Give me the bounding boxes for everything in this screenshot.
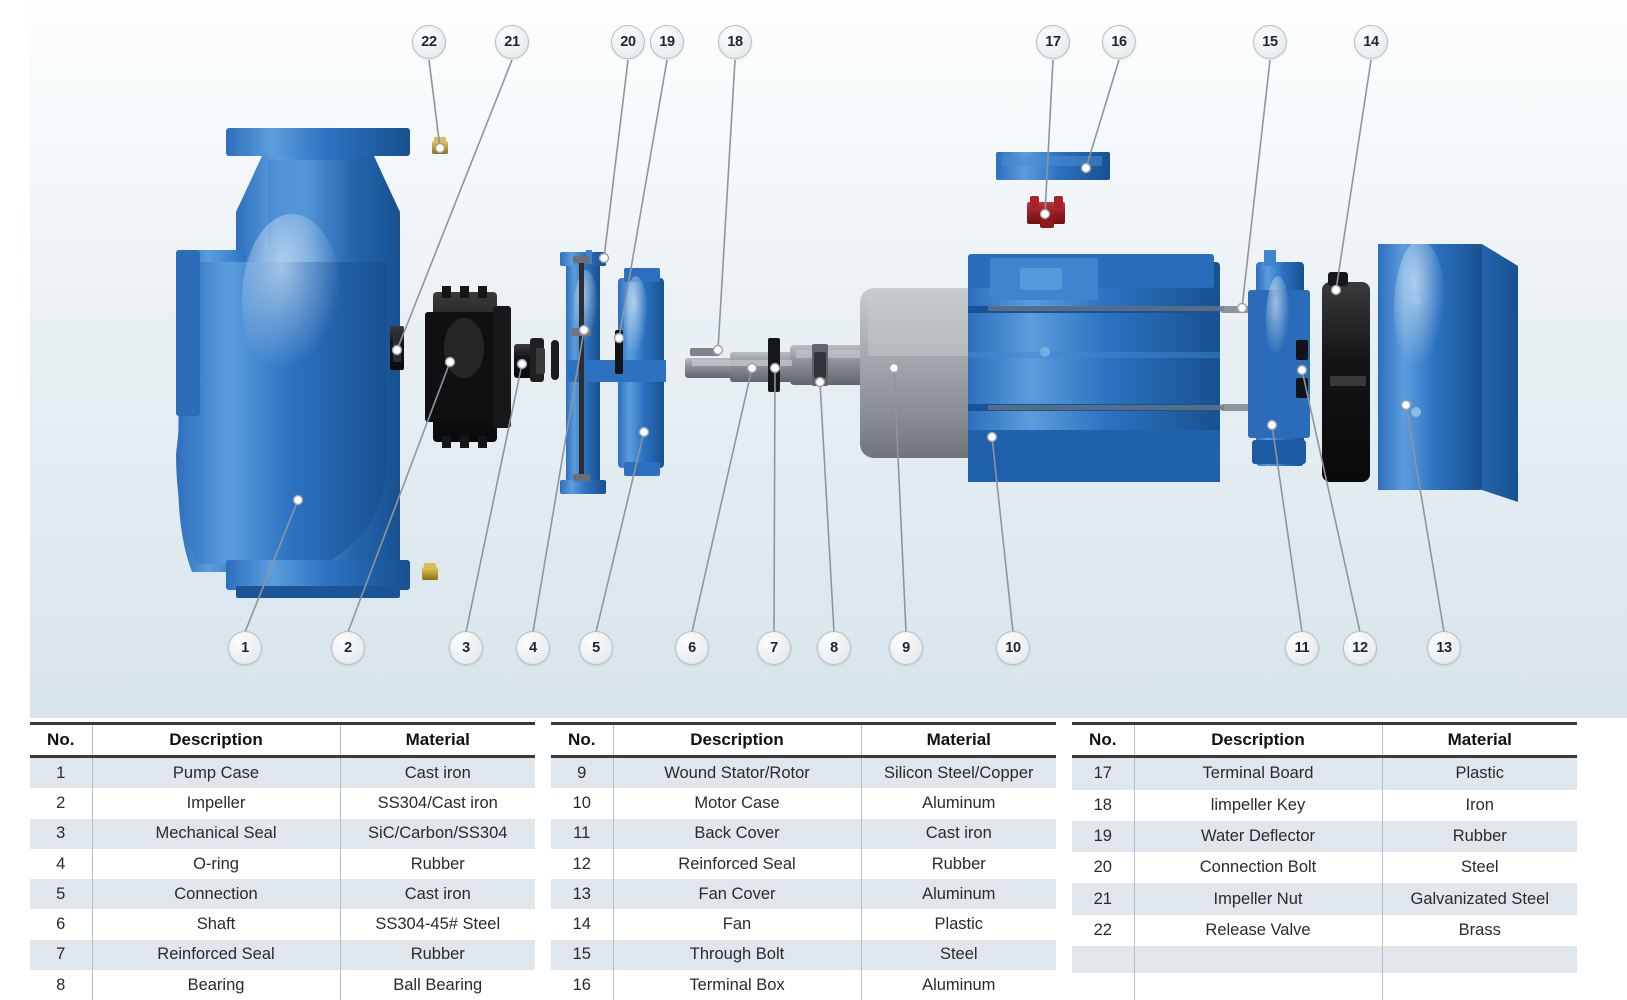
callout-14: 14 [1354,25,1388,59]
part-terminal-box [996,152,1110,180]
cell-description: Fan [613,909,861,939]
cell-no: 2 [30,788,92,818]
callout-5: 5 [579,631,613,665]
cell-no: 5 [30,879,92,909]
table-row: 7Reinforced SealRubber [30,940,535,970]
parts-table-1: No. Description Material 1Pump CaseCast … [30,722,535,1000]
table-row: 8BearingBall Bearing [30,970,535,1000]
cell-description: Shaft [92,909,340,939]
callout-6: 6 [675,631,709,665]
callout-9: 9 [889,631,923,665]
cell-description: O-ring [92,849,340,879]
part-o-ring [551,340,559,380]
cell-description: Bearing [92,970,340,1000]
cell-description: Mechanical Seal [92,819,340,849]
cell-material: Aluminum [861,788,1056,818]
cell-description: Connection Bolt [1134,852,1382,883]
cell-no: 18 [1072,790,1134,821]
cell-material: Plastic [1382,757,1577,790]
cell-description: Reinforced Seal [92,940,340,970]
cell-material: SS304/Cast iron [340,788,535,818]
cell-material: Rubber [340,849,535,879]
part-mechanical-seal [514,338,545,382]
table-row [1072,946,1577,973]
parts-table-2: No. Description Material 9Wound Stator/R… [551,722,1056,1000]
column-header-description: Description [92,724,340,757]
callout-12: 12 [1343,631,1377,665]
cell-material: Cast iron [340,879,535,909]
cell-description: Motor Case [613,788,861,818]
part-fan-cover [1378,240,1518,502]
cell-no: 22 [1072,915,1134,946]
callout-19: 19 [650,25,684,59]
cell-no [1072,946,1134,973]
cell-no: 14 [551,909,613,939]
cell-description [1134,946,1382,973]
cell-description: Release Valve [1134,915,1382,946]
cell-material: Steel [1382,852,1577,883]
part-impeller [425,286,511,448]
column-header-material: Material [861,724,1056,757]
cell-material: Cast iron [861,819,1056,849]
cell-material: Ball Bearing [340,970,535,1000]
cell-description: limpeller Key [1134,790,1382,821]
cell-no: 19 [1072,821,1134,852]
cell-description: Back Cover [613,819,861,849]
callout-21: 21 [495,25,529,59]
cell-description: Through Bolt [613,940,861,970]
column-header-material: Material [1382,724,1577,757]
table-row: 18limpeller KeyIron [1072,790,1577,821]
cell-no: 15 [551,940,613,970]
callout-11: 11 [1285,631,1319,665]
cell-no: 17 [1072,757,1134,790]
cell-no: 20 [1072,852,1134,883]
table-row: 21Impeller NutGalvanizated Steel [1072,883,1577,914]
callout-16: 16 [1102,25,1136,59]
cell-description: Reinforced Seal [613,849,861,879]
column-header-description: Description [613,724,861,757]
cell-material: Rubber [1382,821,1577,852]
cell-material: Plastic [861,909,1056,939]
parts-list-tables: No. Description Material 1Pump CaseCast … [30,722,1627,1000]
column-header-no: No. [551,724,613,757]
cell-no: 7 [30,940,92,970]
cell-material: SS304-45# Steel [340,909,535,939]
cell-material: SiC/Carbon/SS304 [340,819,535,849]
cell-description: Water Deflector [1134,821,1382,852]
callout-15: 15 [1253,25,1287,59]
cell-no: 4 [30,849,92,879]
diagram-illustration [30,0,1627,718]
cell-no: 13 [551,879,613,909]
part-release-valve-lower [422,563,438,580]
table-row: 4O-ringRubber [30,849,535,879]
cell-material: Brass [1382,915,1577,946]
cell-material: Iron [1382,790,1577,821]
callout-17: 17 [1036,25,1070,59]
part-motor-case [968,254,1220,482]
column-header-description: Description [1134,724,1382,757]
table-row: 20Connection BoltSteel [1072,852,1577,883]
cell-no: 1 [30,757,92,789]
part-fan [1322,272,1370,482]
cell-material: Rubber [340,940,535,970]
callout-7: 7 [757,631,791,665]
cell-material: Galvanizated Steel [1382,883,1577,914]
callout-10: 10 [996,631,1030,665]
table-row: 5ConnectionCast iron [30,879,535,909]
table-row: 11Back CoverCast iron [551,819,1056,849]
table-row: 1Pump CaseCast iron [30,757,535,789]
parts-table-3: No. Description Material 17Terminal Boar… [1072,722,1577,1000]
callout-18: 18 [718,25,752,59]
cell-no: 9 [551,757,613,789]
callout-2: 2 [331,631,365,665]
part-pump-case [176,128,410,598]
cell-material: Aluminum [861,879,1056,909]
table-row: 6ShaftSS304-45# Steel [30,909,535,939]
part-connection [560,250,666,494]
cell-no: 3 [30,819,92,849]
cell-description: Pump Case [92,757,340,789]
table-row: 14FanPlastic [551,909,1056,939]
table-row: 17Terminal BoardPlastic [1072,757,1577,790]
cell-material [1382,946,1577,973]
callout-22: 22 [412,25,446,59]
cell-no [1072,973,1134,1000]
table-row: 15Through BoltSteel [551,940,1056,970]
cell-no: 10 [551,788,613,818]
cell-material: Cast iron [340,757,535,789]
table-row: 16Terminal BoxAluminum [551,970,1056,1000]
cell-material: Steel [861,940,1056,970]
table-row: 10Motor CaseAluminum [551,788,1056,818]
table-header-row: No. Description Material [551,724,1056,757]
table-row [1072,973,1577,1000]
callout-3: 3 [449,631,483,665]
cell-description: Impeller Nut [1134,883,1382,914]
callout-13: 13 [1427,631,1461,665]
table-row: 2ImpellerSS304/Cast iron [30,788,535,818]
table-row: 22Release ValveBrass [1072,915,1577,946]
cell-no: 6 [30,909,92,939]
table-row: 3Mechanical SealSiC/Carbon/SS304 [30,819,535,849]
table-header-row: No. Description Material [30,724,535,757]
callout-8: 8 [817,631,851,665]
cell-description: Impeller [92,788,340,818]
callout-4: 4 [516,631,550,665]
callout-20: 20 [611,25,645,59]
column-header-no: No. [30,724,92,757]
cell-no: 21 [1072,883,1134,914]
table-row: 19Water DeflectorRubber [1072,821,1577,852]
cell-description: Fan Cover [613,879,861,909]
cell-no: 11 [551,819,613,849]
cell-material [1382,973,1577,1000]
cell-no: 8 [30,970,92,1000]
table-row: 12Reinforced SealRubber [551,849,1056,879]
cell-no: 12 [551,849,613,879]
cell-description [1134,973,1382,1000]
cell-description: Connection [92,879,340,909]
cell-description: Terminal Box [613,970,861,1000]
cell-description: Wound Stator/Rotor [613,757,861,789]
table-header-row: No. Description Material [1072,724,1577,757]
column-header-material: Material [340,724,535,757]
cell-no: 16 [551,970,613,1000]
callout-1: 1 [228,631,262,665]
exploded-view-diagram: 22 21 20 19 18 17 16 15 14 1 2 3 4 5 6 7… [30,0,1627,718]
column-header-no: No. [1072,724,1134,757]
cell-material: Aluminum [861,970,1056,1000]
table-row: 9Wound Stator/RotorSilicon Steel/Copper [551,757,1056,789]
cell-material: Silicon Steel/Copper [861,757,1056,789]
table-row: 13Fan CoverAluminum [551,879,1056,909]
cell-description: Terminal Board [1134,757,1382,790]
cell-material: Rubber [861,849,1056,879]
